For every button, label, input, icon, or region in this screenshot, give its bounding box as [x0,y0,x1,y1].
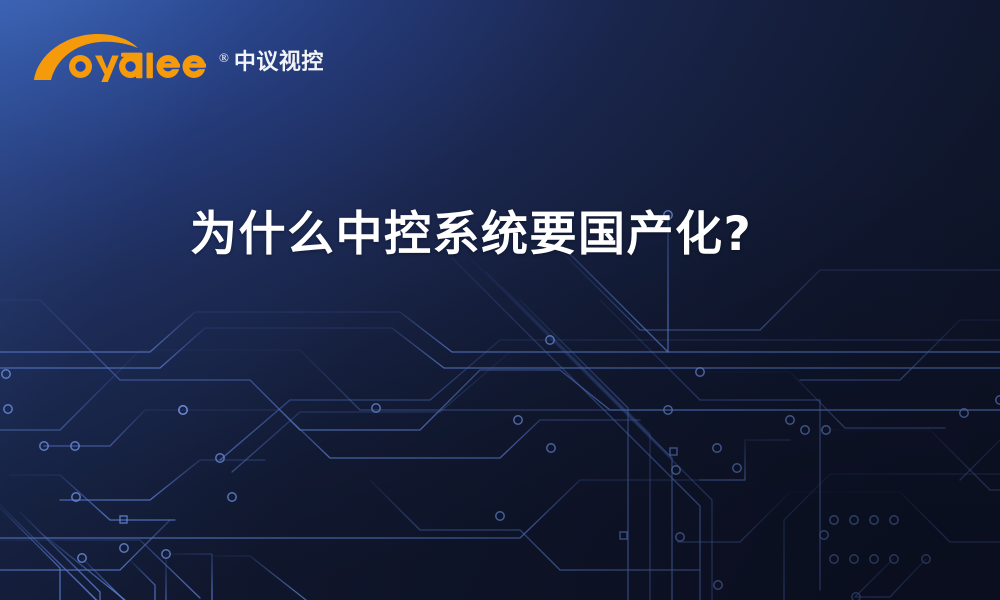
slide-canvas: ® 中议视控 为什么中控系统要国产化? [0,0,1000,600]
registered-trademark-icon: ® [219,51,229,64]
background-vignette [0,0,1000,600]
logo-wordmark-mark [32,30,218,82]
page-title: 为什么中控系统要国产化? [190,209,752,262]
brand-logo[interactable]: ® 中议视控 [32,30,324,82]
logo-chinese-name: 中议视控 [234,52,324,74]
